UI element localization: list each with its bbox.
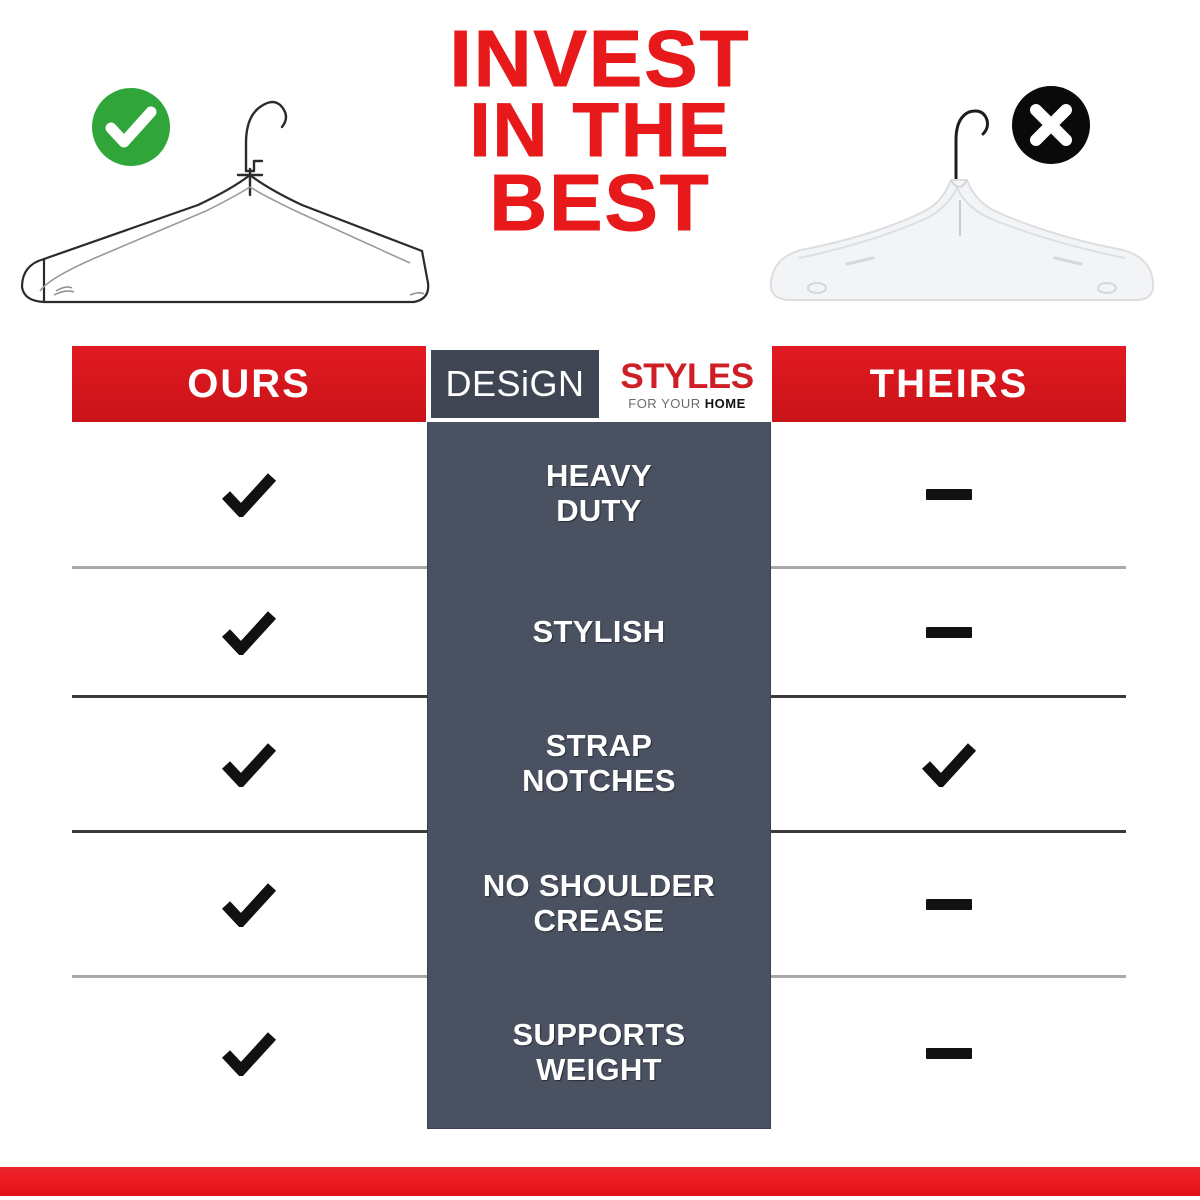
column-header-ours-label: OURS bbox=[187, 362, 311, 407]
hero-section: INVEST IN THE BEST bbox=[0, 0, 1200, 330]
logo-right-group: STYLES FOR YOUR HOME bbox=[599, 346, 771, 422]
clothes-hanger-outline-icon bbox=[10, 55, 430, 305]
dash-icon bbox=[926, 1048, 972, 1059]
feature-label-supports-weight: SUPPORTS WEIGHT bbox=[427, 978, 771, 1128]
feature-line: CREASE bbox=[534, 903, 665, 938]
check-icon bbox=[221, 881, 277, 927]
feature-line: NO SHOULDER bbox=[483, 868, 715, 903]
cell-ours-no-shoulder-crease bbox=[72, 833, 426, 975]
cell-theirs-stylish bbox=[772, 569, 1126, 695]
column-header-theirs-label: THEIRS bbox=[870, 362, 1029, 407]
circle-check-icon bbox=[90, 86, 172, 168]
comparison-infographic: INVEST IN THE BEST bbox=[0, 0, 1200, 1200]
dash-icon bbox=[926, 627, 972, 638]
logo-tagline-light: FOR YOUR bbox=[628, 396, 705, 411]
dash-icon bbox=[926, 899, 972, 910]
logo-tagline: FOR YOUR HOME bbox=[628, 397, 746, 410]
cell-theirs-heavy-duty bbox=[772, 422, 1126, 566]
feature-line: SUPPORTS bbox=[513, 1017, 686, 1052]
brand-logo: DESiGN STYLES FOR YOUR HOME bbox=[427, 346, 771, 422]
table-row: SUPPORTS WEIGHT bbox=[0, 978, 1200, 1128]
cell-ours-supports-weight bbox=[72, 978, 426, 1128]
check-icon bbox=[221, 609, 277, 655]
cell-theirs-strap-notches bbox=[772, 698, 1126, 830]
cell-ours-strap-notches bbox=[72, 698, 426, 830]
feature-label-stylish: STYLISH bbox=[427, 569, 771, 695]
logo-design-text: DESiGN bbox=[445, 363, 584, 405]
headline-line-1: INVEST bbox=[400, 22, 800, 96]
cell-ours-stylish bbox=[72, 569, 426, 695]
cell-ours-heavy-duty bbox=[72, 422, 426, 566]
check-icon bbox=[221, 741, 277, 787]
table-row: NO SHOULDER CREASE bbox=[0, 833, 1200, 975]
check-icon bbox=[921, 741, 977, 787]
dash-icon bbox=[926, 489, 972, 500]
feature-line: NOTCHES bbox=[522, 763, 676, 798]
clear-plastic-hanger-icon bbox=[755, 60, 1175, 310]
column-header-ours: OURS bbox=[72, 346, 426, 422]
cell-theirs-no-shoulder-crease bbox=[772, 833, 1126, 975]
feature-line: WEIGHT bbox=[536, 1052, 662, 1087]
feature-line: STYLISH bbox=[532, 615, 665, 650]
feature-label-heavy-duty: HEAVY DUTY bbox=[427, 422, 771, 566]
cell-theirs-supports-weight bbox=[772, 978, 1126, 1128]
headline-line-2: IN THE bbox=[400, 96, 800, 166]
logo-design-box: DESiGN bbox=[431, 350, 599, 418]
check-icon bbox=[221, 1030, 277, 1076]
circle-x-icon bbox=[1010, 84, 1092, 166]
logo-tagline-bold: HOME bbox=[705, 396, 746, 411]
column-header-theirs: THEIRS bbox=[772, 346, 1126, 422]
feature-line: HEAVY bbox=[546, 458, 652, 493]
check-icon bbox=[221, 471, 277, 517]
comparison-table: OURS THEIRS DESiGN STYLES FOR YOUR HOME bbox=[0, 330, 1200, 1130]
feature-label-no-shoulder-crease: NO SHOULDER CREASE bbox=[427, 833, 771, 975]
feature-line: DUTY bbox=[556, 493, 642, 528]
page-title: INVEST IN THE BEST bbox=[400, 22, 800, 239]
logo-styles-text: STYLES bbox=[620, 359, 753, 394]
feature-label-strap-notches: STRAP NOTCHES bbox=[427, 698, 771, 830]
headline-line-3: BEST bbox=[400, 166, 800, 240]
table-row: HEAVY DUTY bbox=[0, 422, 1200, 566]
table-row: STRAP NOTCHES bbox=[0, 698, 1200, 830]
table-row: STYLISH bbox=[0, 569, 1200, 695]
feature-line: STRAP bbox=[546, 728, 653, 763]
footer-accent-bar bbox=[0, 1167, 1200, 1196]
